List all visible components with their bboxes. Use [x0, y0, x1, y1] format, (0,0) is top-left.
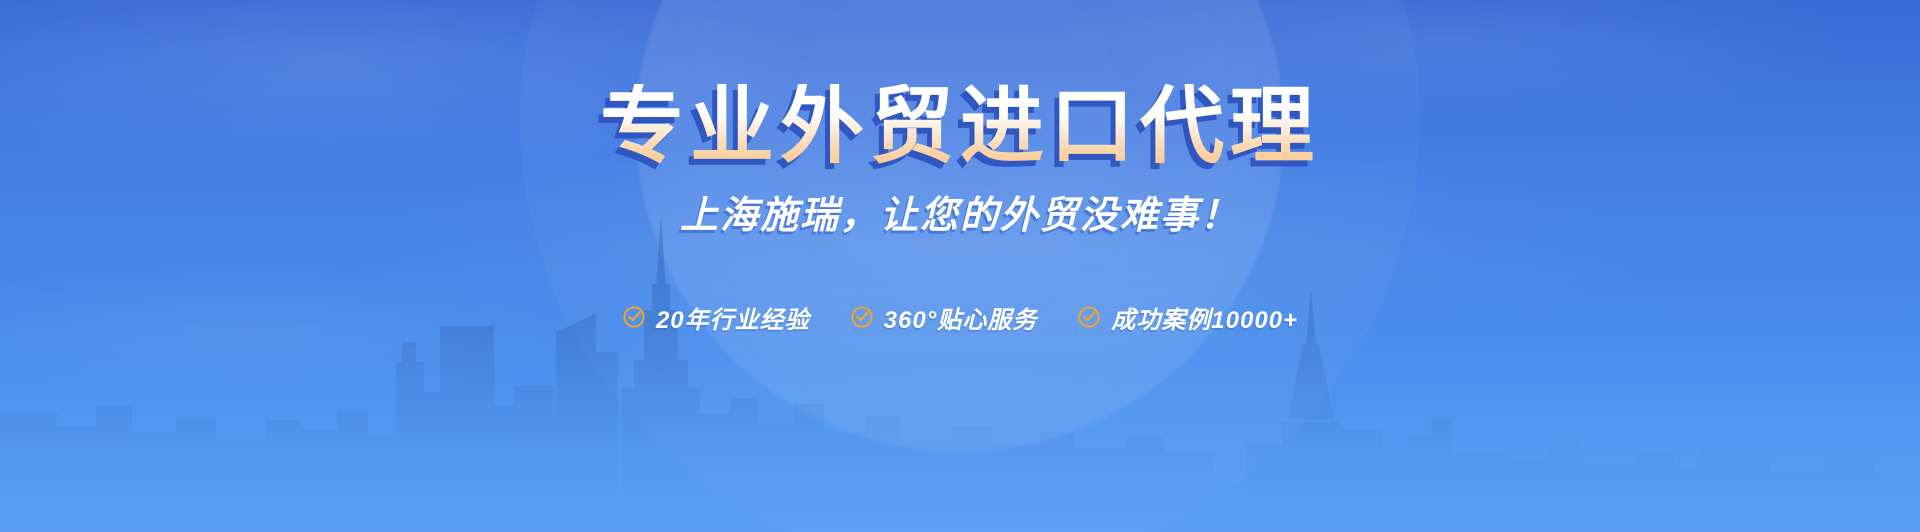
feature-item-service: 360°贴心服务 — [850, 300, 1038, 335]
feature-item-cases: 成功案例10000+ — [1077, 300, 1298, 335]
feature-item-experience: 20年行业经验 — [622, 300, 810, 335]
hero-banner: 专业外贸进口代理 上海施瑞，让您的外贸没难事！ 20年行业经验 — [0, 0, 1920, 532]
feature-label: 360°贴心服务 — [884, 300, 1038, 335]
feature-label: 成功案例10000+ — [1111, 300, 1298, 335]
feature-label: 20年行业经验 — [656, 300, 810, 335]
circle-check-icon — [622, 305, 646, 329]
circle-check-icon — [1077, 305, 1101, 329]
banner-content: 专业外贸进口代理 上海施瑞，让您的外贸没难事！ 20年行业经验 — [0, 0, 1920, 532]
circle-check-icon — [850, 305, 874, 329]
page-title: 专业外贸进口代理 — [600, 84, 1320, 168]
feature-list: 20年行业经验 360°贴心服务 成功案例1 — [622, 300, 1298, 335]
banner-subtitle: 上海施瑞，让您的外贸没难事！ — [680, 196, 1240, 238]
